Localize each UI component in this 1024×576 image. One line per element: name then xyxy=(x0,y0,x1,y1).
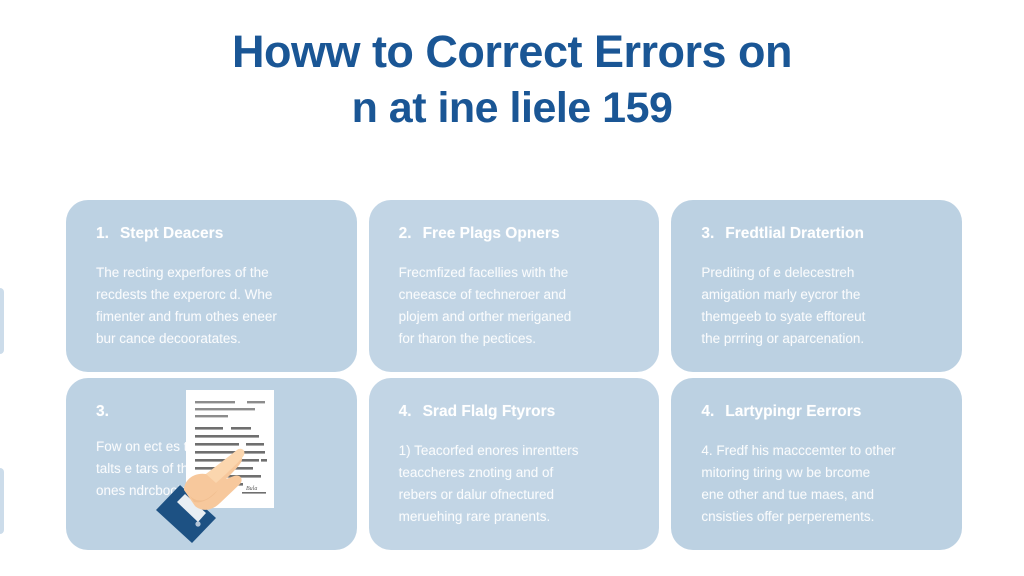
card-body-line: plojem and orther meriganed xyxy=(399,306,634,328)
card-step-3[interactable]: 3.Fredtlial Dratertion Prediting of e de… xyxy=(671,200,962,372)
infographic-page: Howw to Correct Errors on n at ine liele… xyxy=(0,0,1024,576)
card-body: Prediting of e delecestreh amigation mar… xyxy=(701,262,936,350)
card-number: 3. xyxy=(701,225,714,242)
card-body-line: meruehing rare pranents. xyxy=(399,506,634,528)
card-body-line: talts e tars of thst xyxy=(96,458,331,480)
card-body-line: bur cance decooratates. xyxy=(96,328,331,350)
card-heading: 3.Fredtlial Dratertion xyxy=(701,224,936,244)
left-edge-artifact-bottom xyxy=(0,468,4,534)
card-step-5[interactable]: 4.Srad Flalg Ftyrors 1) Teacorfed enores… xyxy=(369,378,660,550)
card-body-line: 1) Teacorfed enores inrentters xyxy=(399,440,634,462)
card-body: Frecmfized facellies with the cneeasce o… xyxy=(399,262,634,350)
card-number: 1. xyxy=(96,225,109,242)
card-body-line: Frecmfized facellies with the xyxy=(399,262,634,284)
card-step-2[interactable]: 2.Free Plags Opners Frecmfized facellies… xyxy=(369,200,660,372)
card-number: 2. xyxy=(399,225,412,242)
card-body: 1) Teacorfed enores inrentters teacchere… xyxy=(399,440,634,528)
card-heading: 4.Srad Flalg Ftyrors xyxy=(399,402,634,422)
card-body-line: mitoring tiring vw be brcome xyxy=(701,462,936,484)
card-body-line: 4. Fredf his macccemter to other xyxy=(701,440,936,462)
card-title: Stept Deacers xyxy=(120,225,223,242)
card-body-line: cneeasce of techneroer and xyxy=(399,284,634,306)
card-heading: 4.Lartypingr Eerrors xyxy=(701,402,936,422)
card-body-line: the prrring or aparcenation. xyxy=(701,328,936,350)
card-heading: 1.Stept Deacers xyxy=(96,224,331,244)
card-body-line: Prediting of e delecestreh xyxy=(701,262,936,284)
card-body-line: The recting experfores of the xyxy=(96,262,331,284)
card-title: Srad Flalg Ftyrors xyxy=(423,403,556,420)
card-heading: 3. xyxy=(96,402,331,422)
card-title: Lartypingr Eerrors xyxy=(725,403,861,420)
card-number: 4. xyxy=(399,403,412,420)
card-grid: 1.Stept Deacers The recting experfores o… xyxy=(66,200,962,550)
card-body-line: ones ndrcbook. xyxy=(96,480,331,502)
card-body-line: recdests the experorc d. Whe xyxy=(96,284,331,306)
card-step-6[interactable]: 4.Lartypingr Eerrors 4. Fredf his maccce… xyxy=(671,378,962,550)
card-body-line: cnsisties offer perperements. xyxy=(701,506,936,528)
page-title-line-1: Howw to Correct Errors on xyxy=(0,24,1024,80)
card-body-line: for tharon the pectices. xyxy=(399,328,634,350)
card-body-line: themgeeb to syate efftoreut xyxy=(701,306,936,328)
card-body-line: rebers or dalur ofnectured xyxy=(399,484,634,506)
card-body-line: fimenter and frum othes eneer xyxy=(96,306,331,328)
card-number: 3. xyxy=(96,403,109,420)
card-body-line: amigation marly eycror the xyxy=(701,284,936,306)
card-body-line: teaccheres znoting and of xyxy=(399,462,634,484)
card-number: 4. xyxy=(701,403,714,420)
card-step-1[interactable]: 1.Stept Deacers The recting experfores o… xyxy=(66,200,357,372)
card-title: Free Plags Opners xyxy=(423,225,560,242)
page-title: Howw to Correct Errors on n at ine liele… xyxy=(0,24,1024,136)
card-body: The recting experfores of the recdests t… xyxy=(96,262,331,350)
card-body: Fow on ect es theed talts e tars of thst… xyxy=(96,436,331,502)
card-body-line: ene other and tue maes, and xyxy=(701,484,936,506)
card-body: 4. Fredf his macccemter to other mitorin… xyxy=(701,440,936,528)
left-edge-artifact-top xyxy=(0,288,4,354)
card-step-4-with-illustration[interactable]: 3. Fow on ect es theed talts e tars of t… xyxy=(66,378,357,550)
card-title: Fredtlial Dratertion xyxy=(725,225,864,242)
card-heading: 2.Free Plags Opners xyxy=(399,224,634,244)
card-body-line: Fow on ect es theed xyxy=(96,436,331,458)
page-title-line-2: n at ine liele 159 xyxy=(0,80,1024,136)
